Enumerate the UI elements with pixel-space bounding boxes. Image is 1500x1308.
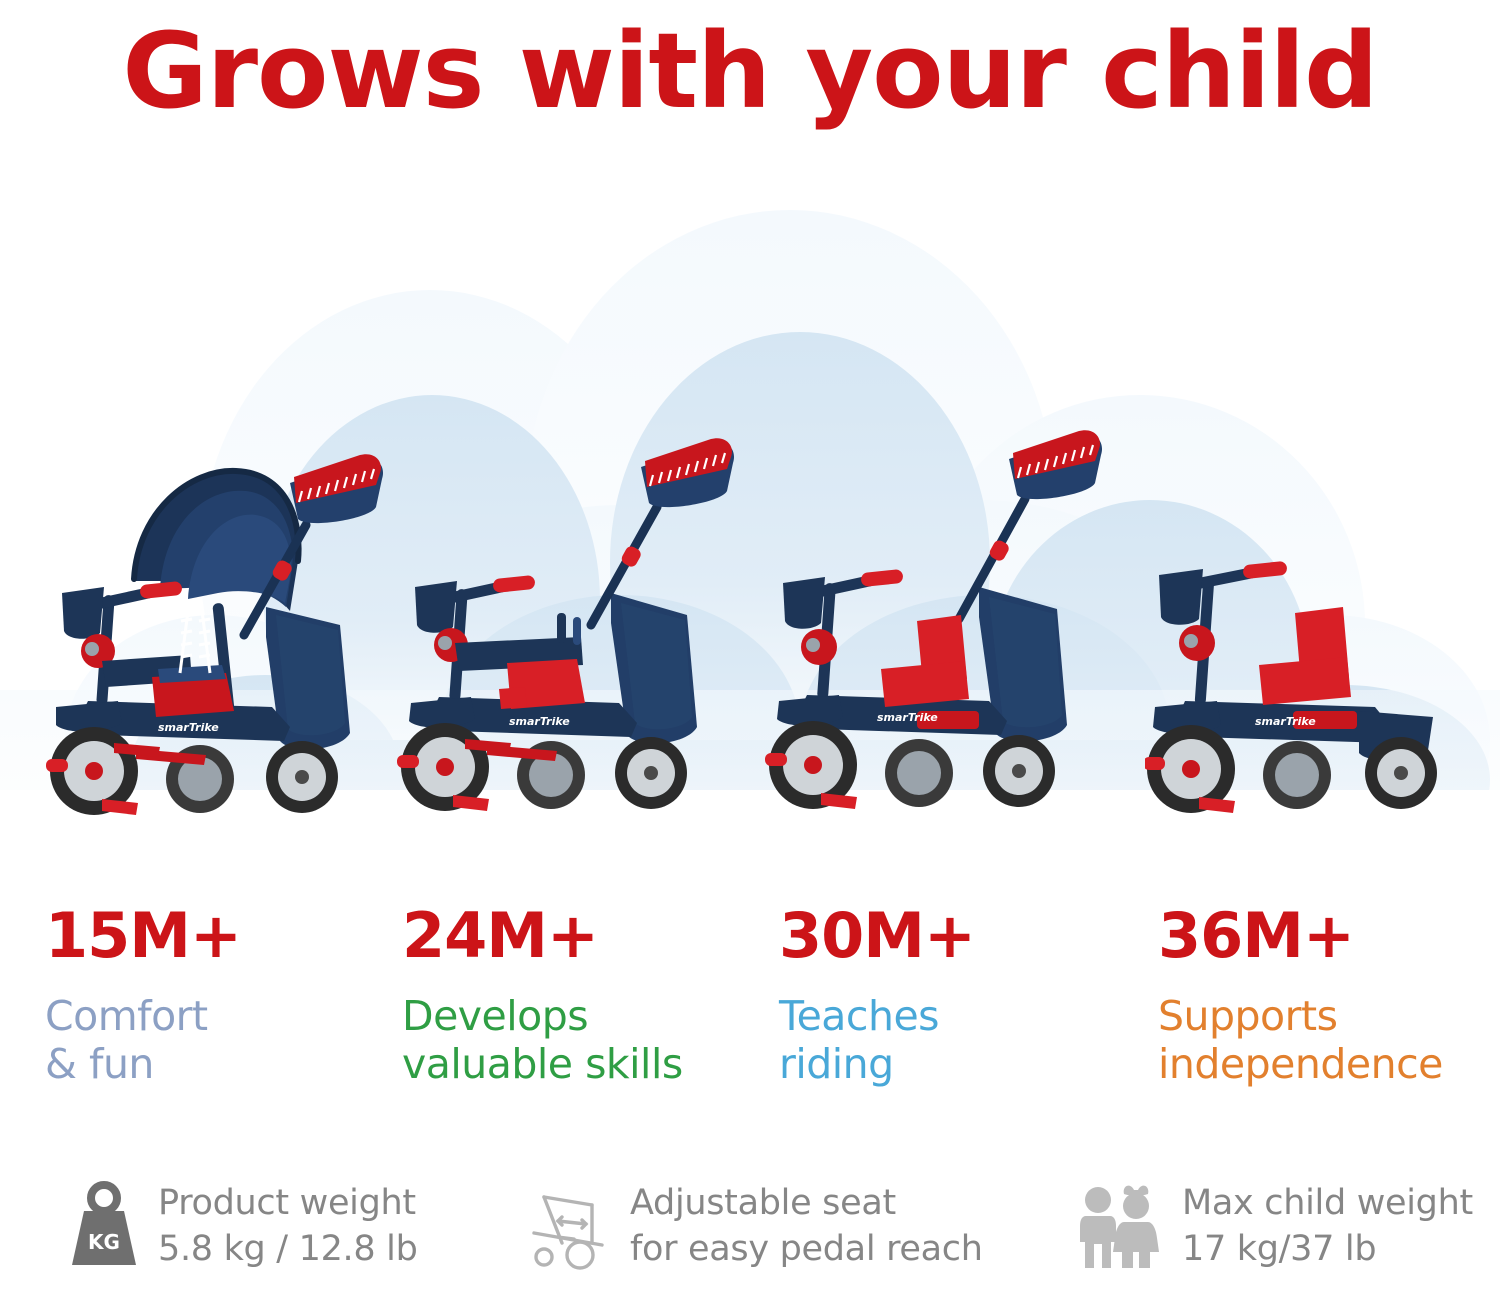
weight-kg-icon: KG — [68, 1181, 140, 1271]
benefit-description-2: Develops valuable skills — [402, 993, 683, 1088]
product-stage-3: smarTrike — [765, 411, 1115, 836]
benefit-age-1: 15M+ — [45, 905, 241, 967]
tricycle-stage-4-classic-trike-icon: smarTrike — [1145, 531, 1475, 831]
tricycle-stage-2-no-canopy-icon: smarTrike — [395, 411, 745, 831]
frame-group: smarTrike — [56, 581, 290, 741]
spec-line2-3: 17 kg/37 lb — [1182, 1226, 1473, 1272]
benefit-line2-2: valuable skills — [402, 1040, 683, 1088]
spec-product-weight-text: Product weight 5.8 kg / 12.8 lb — [158, 1180, 418, 1272]
weight-icon-unit-label: KG — [88, 1230, 120, 1254]
tricycle-stage-3-open-seat-icon: smarTrike — [765, 411, 1115, 831]
spec-max-child-weight: Max child weight 17 kg/37 lb — [1072, 1180, 1473, 1272]
benefit-description-3: Teaches riding — [779, 993, 975, 1088]
spec-product-weight: KG Product weight 5.8 kg / 12.8 lb — [68, 1180, 418, 1272]
benefit-line2-1: & fun — [45, 1040, 154, 1088]
benefit-line2-3: riding — [779, 1040, 894, 1088]
benefit-line1-4: Supports — [1158, 992, 1337, 1040]
benefit-line2-4: independence — [1158, 1040, 1443, 1088]
benefit-column-3: 30M+ Teaches riding — [779, 905, 975, 1088]
benefits-row: 15M+ Comfort & fun 24M+ Develops valuabl… — [0, 905, 1500, 1120]
spec-line1-3: Max child weight — [1182, 1183, 1473, 1223]
specifications-row: KG Product weight 5.8 kg / 12.8 lb — [0, 1180, 1500, 1308]
spec-adjustable-seat: Adjustable seat for easy pedal reach — [528, 1180, 983, 1272]
adjustable-seat-icon-svg — [528, 1181, 612, 1271]
title-area: Grows with your child — [0, 6, 1500, 136]
benefit-age-2: 24M+ — [402, 905, 683, 967]
adjustable-seat-icon — [528, 1181, 612, 1271]
page-title: Grows with your child — [122, 19, 1377, 123]
product-stage-row: smarTrike — [0, 400, 1500, 850]
max-child-weight-children-icon — [1072, 1180, 1164, 1272]
product-stage-4: smarTrike — [1145, 531, 1475, 836]
product-stage-1: smarTrike — [40, 411, 400, 836]
children-pictogram-svg — [1072, 1180, 1164, 1272]
tricycle-stage-1-with-canopy-icon: smarTrike — [40, 411, 400, 831]
benefit-line1-1: Comfort — [45, 992, 208, 1040]
boy-pictogram — [1080, 1187, 1116, 1268]
product-stage-2: smarTrike — [395, 411, 745, 836]
brand-logo-text: smarTrike — [1255, 715, 1316, 728]
spec-line2-2: for easy pedal reach — [630, 1226, 983, 1272]
benefit-line1-2: Develops — [402, 992, 588, 1040]
spec-line1-1: Product weight — [158, 1183, 416, 1223]
benefit-age-3: 30M+ — [779, 905, 975, 967]
benefit-description-1: Comfort & fun — [45, 993, 241, 1088]
benefit-age-4: 36M+ — [1158, 905, 1443, 967]
benefit-column-2: 24M+ Develops valuable skills — [402, 905, 683, 1088]
brand-logo-text: smarTrike — [509, 715, 570, 728]
weight-kg-icon-svg: KG — [68, 1181, 140, 1271]
benefit-column-1: 15M+ Comfort & fun — [45, 905, 241, 1088]
benefit-line1-3: Teaches — [779, 992, 939, 1040]
brand-logo-text: smarTrike — [158, 721, 219, 734]
spec-adjustable-seat-text: Adjustable seat for easy pedal reach — [630, 1180, 983, 1272]
girl-pictogram — [1113, 1186, 1159, 1268]
benefit-description-4: Supports independence — [1158, 993, 1443, 1088]
spec-max-child-weight-text: Max child weight 17 kg/37 lb — [1182, 1180, 1473, 1272]
spec-line2-1: 5.8 kg / 12.8 lb — [158, 1226, 418, 1272]
brand-logo-text: smarTrike — [877, 711, 938, 724]
spec-line1-2: Adjustable seat — [630, 1183, 896, 1223]
benefit-column-4: 36M+ Supports independence — [1158, 905, 1443, 1088]
